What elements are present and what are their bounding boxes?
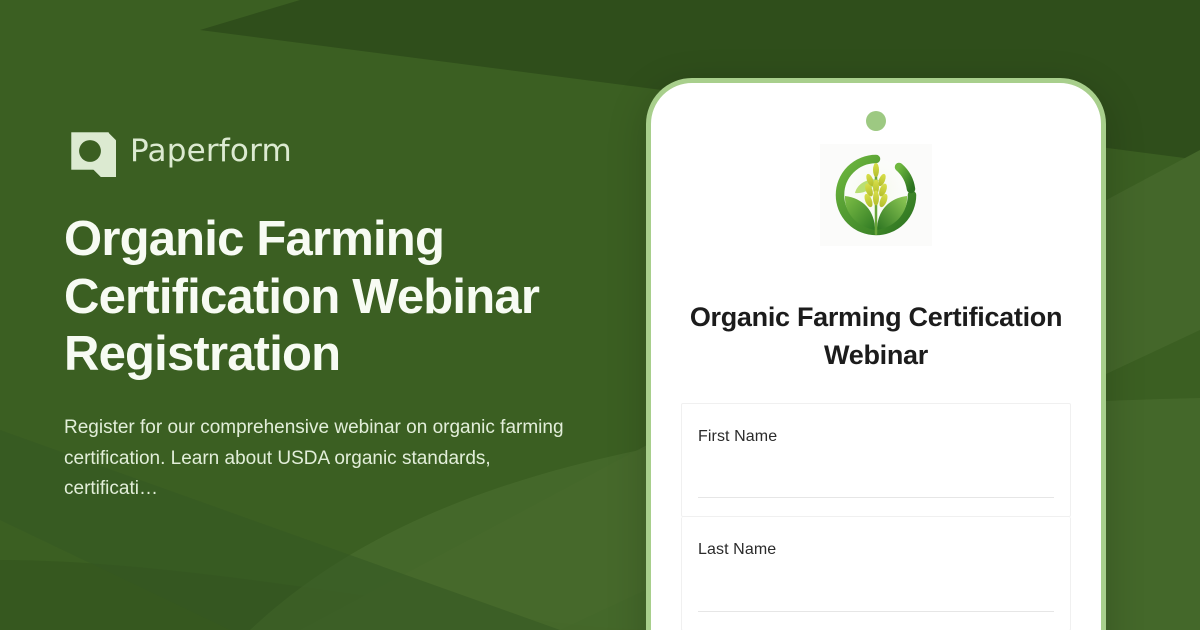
field-first-name[interactable]: First Name: [681, 403, 1071, 517]
paperform-logo-icon: [64, 125, 116, 177]
brand-lockup: Paperform: [64, 125, 604, 177]
hero-content: Paperform Organic Farming Certification …: [64, 0, 604, 630]
hero-description: Register for our comprehensive webinar o…: [64, 413, 584, 504]
wheat-leaf-circle-logo-icon: [826, 145, 926, 245]
last-name-input[interactable]: [698, 611, 1054, 612]
form-field-list: First Name Last Name: [681, 403, 1071, 630]
brand-wordmark: Paperform: [130, 136, 292, 167]
form-preview-title: Organic Farming Certification Webinar: [651, 298, 1101, 375]
form-logo-container: [820, 144, 932, 246]
field-last-name[interactable]: Last Name: [681, 517, 1071, 630]
first-name-input[interactable]: [698, 497, 1054, 498]
field-label-first-name: First Name: [698, 428, 1054, 446]
phone-mockup: Organic Farming Certification Webinar Fi…: [646, 78, 1106, 630]
front-camera-dot-icon: [866, 111, 886, 131]
page-title: Organic Farming Certification Webinar Re…: [64, 211, 594, 383]
field-label-last-name: Last Name: [698, 541, 1054, 559]
og-image-canvas: Paperform Organic Farming Certification …: [0, 0, 1200, 630]
